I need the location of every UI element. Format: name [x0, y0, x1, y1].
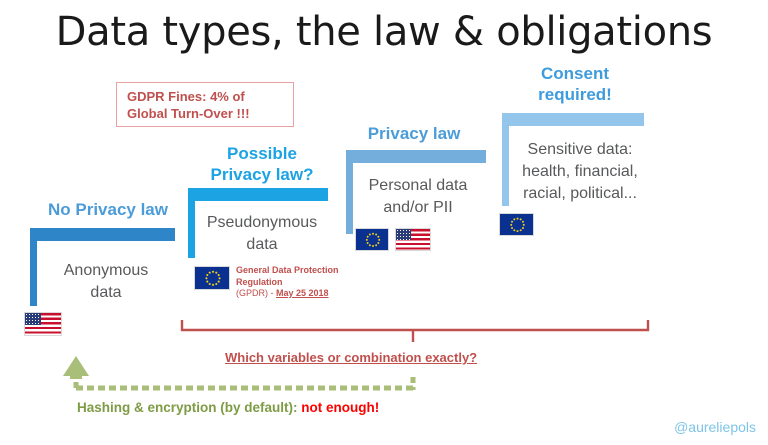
hashing-label-highlight: not enough! — [301, 400, 379, 415]
gdpr-regulation-caption: General Data Protection Regulation (GPDR… — [236, 265, 339, 300]
column-heading-no-privacy-law: No Privacy law — [28, 199, 188, 220]
column-body-consent-required: Sensitive data: health, financial, racia… — [504, 139, 656, 205]
gdpr-caption-prefix: (GPDR) - — [236, 288, 276, 298]
column-heading-possible-privacy-law: Possible Privacy law? — [186, 143, 338, 185]
heading-line: Possible — [186, 143, 338, 164]
body-line: Anonymous — [36, 260, 176, 282]
body-line: Personal data — [348, 175, 488, 197]
gdpr-caption-date: May 25 2018 — [276, 288, 329, 298]
body-line: health, financial, — [504, 161, 656, 183]
hashing-encryption-label: Hashing & encryption (by default): not e… — [77, 400, 379, 415]
gdpr-fines-line-1: GDPR Fines: 4% of — [127, 88, 293, 105]
page-title: Data types, the law & obligations — [0, 8, 768, 56]
variables-brace — [180, 318, 650, 344]
hashing-encryption-arrow — [58, 355, 428, 400]
body-line: Sensitive data: — [504, 139, 656, 161]
eu-flag — [194, 266, 230, 290]
column-heading-consent-required: Consent required! — [500, 63, 650, 105]
gdpr-caption-line-2: Regulation — [236, 277, 339, 289]
body-line: racial, political... — [504, 183, 656, 205]
author-watermark: @aureliepols — [674, 419, 756, 435]
body-line: data — [192, 234, 332, 256]
column-body-possible-privacy-law: Pseudonymous data — [192, 212, 332, 256]
gdpr-fines-line-2: Global Turn-Over !!! — [127, 105, 293, 122]
body-line: and/or PII — [348, 197, 488, 219]
column-heading-privacy-law: Privacy law — [344, 123, 484, 144]
us-flag — [395, 228, 431, 251]
column-body-privacy-law: Personal data and/or PII — [348, 175, 488, 219]
heading-line: required! — [500, 84, 650, 105]
body-line: data — [36, 282, 176, 304]
heading-line: Consent — [500, 63, 650, 84]
slide-canvas: Data types, the law & obligations GDPR F… — [0, 0, 768, 445]
gdpr-caption-line-1: General Data Protection — [236, 265, 339, 277]
column-body-no-privacy-law: Anonymous data — [36, 260, 176, 304]
heading-line: Privacy law? — [186, 164, 338, 185]
eu-flag — [355, 228, 389, 251]
us-flag — [24, 312, 62, 336]
hashing-label-prefix: Hashing & encryption (by default): — [77, 400, 301, 415]
eu-flag — [499, 213, 534, 236]
body-line: Pseudonymous — [192, 212, 332, 234]
gdpr-caption-line-3: (GPDR) - May 25 2018 — [236, 288, 339, 300]
gdpr-fines-callout: GDPR Fines: 4% of Global Turn-Over !!! — [116, 82, 294, 127]
